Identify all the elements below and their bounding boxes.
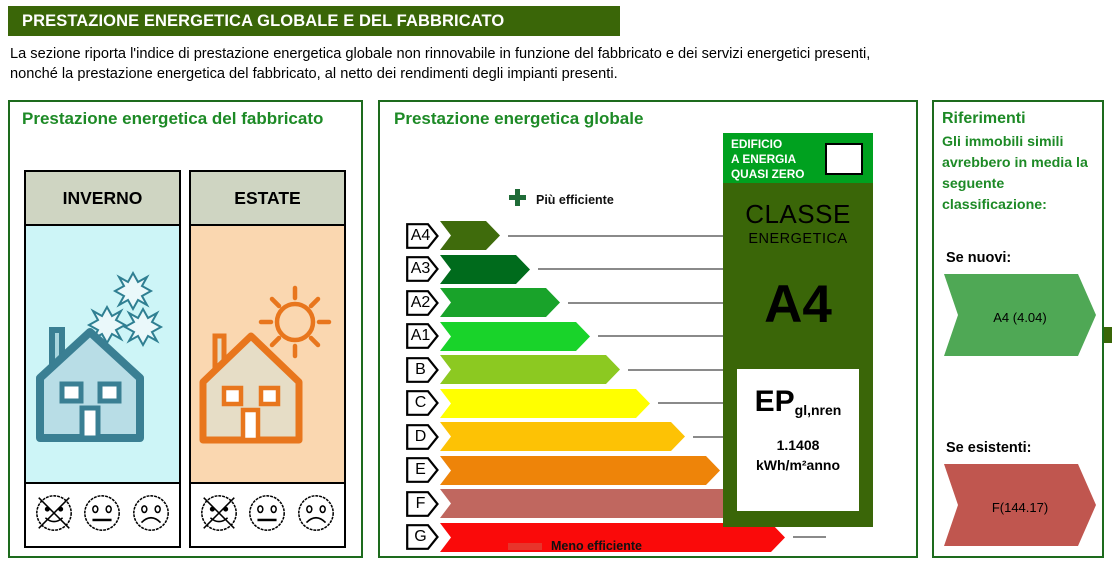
snowflake-house-icon — [26, 226, 179, 482]
ep-value: 1.1408 — [737, 435, 859, 455]
energy-class-bar-e — [440, 456, 720, 485]
nzeb-line-2: A ENERGIA — [731, 152, 804, 167]
energy-class-bar-c — [440, 389, 650, 418]
energy-class-tag-a2: A2 — [406, 290, 439, 316]
riferimenti-existing-chevron: F(144.17) — [944, 464, 1096, 551]
riferimenti-new-value: A4 (4.04) — [944, 274, 1096, 361]
energy-class-box: CLASSE ENERGETICA A4 EPgl,nren 1.1408 kW… — [723, 183, 873, 527]
legend-more-efficient: Più efficiente — [508, 188, 614, 212]
seasons-container: INVERNO — [24, 170, 346, 548]
ep-subscript: gl,nren — [795, 402, 842, 418]
energy-class-bar-a1 — [440, 322, 590, 351]
season-card-inverno: INVERNO — [24, 170, 181, 548]
energy-class-tag-b: B — [406, 357, 439, 383]
riferimenti-new-chevron: A4 (4.04) — [944, 274, 1096, 361]
ep-symbol-group: EPgl,nren — [737, 385, 859, 419]
ep-unit: kWh/m²anno — [737, 455, 859, 475]
nzeb-badge: EDIFICIO A ENERGIA QUASI ZERO — [723, 133, 873, 183]
intro-paragraph: La sezione riporta l'indice di prestazio… — [10, 44, 1096, 84]
energy-class-tag-a1: A1 — [406, 323, 439, 349]
energy-class-tag-d: D — [406, 424, 439, 450]
riferimenti-description: Gli immobili simili avrebbero in media l… — [942, 132, 1102, 216]
energy-class-tag-label: D — [409, 424, 432, 450]
nzeb-checkbox[interactable] — [825, 143, 863, 175]
energy-class-bar-a4 — [440, 221, 500, 250]
page-title: PRESTAZIONE ENERGETICA GLOBALE E DEL FAB… — [8, 12, 504, 31]
crossed-smiley-icon — [198, 492, 240, 539]
neutral-face-icon — [246, 492, 288, 539]
season-card-estate: ESTATE — [189, 170, 346, 548]
energy-class-tag-label: F — [409, 491, 432, 517]
season-inverno-faces — [26, 484, 179, 546]
sad-face-icon — [130, 492, 172, 539]
nzeb-line-3: QUASI ZERO — [731, 167, 804, 182]
panel-prestazione-fabbricato: Prestazione energetica del fabbricato IN… — [8, 100, 363, 558]
energy-class-tag-label: A2 — [409, 290, 432, 316]
intro-line-2: nonché la prestazione energetica del fab… — [10, 64, 1096, 84]
classe-label: CLASSE — [723, 199, 873, 230]
energy-class-bar-d — [440, 422, 685, 451]
energy-class-tag-a3: A3 — [406, 256, 439, 282]
season-estate-faces — [191, 484, 344, 546]
energy-class-tag-e: E — [406, 457, 439, 483]
red-line-icon — [508, 543, 542, 550]
energy-class-value: A4 — [723, 277, 873, 333]
page-header-bar: PRESTAZIONE ENERGETICA GLOBALE E DEL FAB… — [8, 6, 620, 36]
energy-class-tag-g: G — [406, 524, 439, 550]
nzeb-text: EDIFICIO A ENERGIA QUASI ZERO — [731, 137, 804, 182]
intro-line-1: La sezione riporta l'indice di prestazio… — [10, 44, 1096, 64]
energy-class-tag-c: C — [406, 390, 439, 416]
energy-class-tag-label: B — [409, 357, 432, 383]
energy-class-tag-label: G — [409, 524, 432, 550]
riferimenti-new-label: Se nuovi: — [946, 250, 1011, 266]
energy-class-bar-a2 — [440, 288, 560, 317]
season-inverno-illustration — [26, 226, 179, 484]
energy-class-tag-f: F — [406, 491, 439, 517]
riferimenti-existing-value: F(144.17) — [944, 464, 1096, 551]
energy-class-bar-b — [440, 355, 620, 384]
season-estate-label: ESTATE — [191, 172, 344, 226]
energy-class-tag-a4: A4 — [406, 223, 439, 249]
panel-fabbricato-title: Prestazione energetica del fabbricato — [22, 108, 342, 129]
sad-face-icon — [295, 492, 337, 539]
plus-icon — [508, 188, 527, 212]
season-inverno-label: INVERNO — [26, 172, 179, 226]
energy-class-tag-label: C — [409, 390, 432, 416]
energy-class-tag-label: E — [409, 457, 432, 483]
legend-more-efficient-label: Più efficiente — [536, 193, 614, 207]
energy-class-tag-label: A1 — [409, 323, 432, 349]
riferimenti-existing-label: Se esistenti: — [946, 440, 1031, 456]
energy-class-bar-f — [440, 489, 750, 518]
panel-riferimenti-title: Riferimenti — [942, 108, 1026, 129]
energy-class-tag-label: A3 — [409, 256, 432, 282]
panel-globale-title: Prestazione energetica globale — [394, 108, 643, 129]
energetica-label: ENERGETICA — [723, 231, 873, 247]
energy-class-leader-line — [793, 536, 826, 538]
ep-value-group: 1.1408 kWh/m²anno — [737, 435, 859, 475]
sun-house-icon — [191, 226, 344, 482]
panel-riferimenti: Riferimenti Gli immobili simili avrebber… — [932, 100, 1104, 558]
legend-less-efficient: Meno efficiente — [508, 539, 642, 553]
crossed-smiley-icon — [33, 492, 75, 539]
nzeb-line-1: EDIFICIO — [731, 137, 804, 152]
neutral-face-icon — [81, 492, 123, 539]
legend-less-efficient-label: Meno efficiente — [551, 539, 642, 553]
ep-symbol: EP — [755, 385, 795, 418]
season-estate-illustration — [191, 226, 344, 484]
energy-class-tag-label: A4 — [409, 223, 432, 249]
energy-class-bar-a3 — [440, 255, 530, 284]
ep-index-box: EPgl,nren 1.1408 kWh/m²anno — [737, 369, 859, 511]
